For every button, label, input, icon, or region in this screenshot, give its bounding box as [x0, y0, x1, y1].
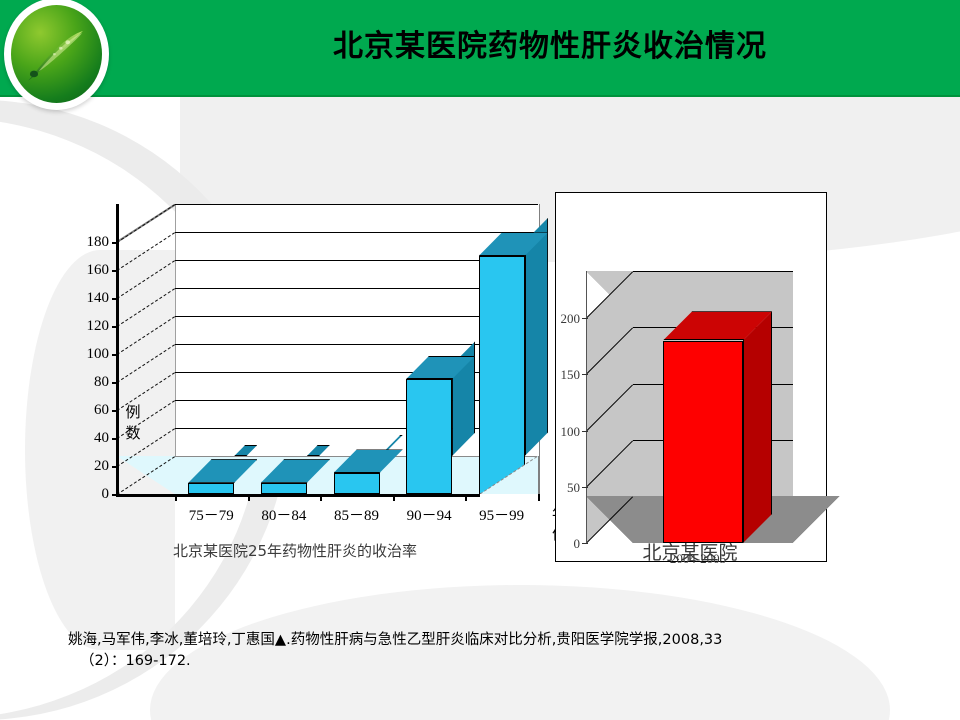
- y-tick-label: 200: [542, 313, 580, 324]
- y-tick-label: 180: [63, 236, 109, 248]
- y-tick-label: 100: [63, 348, 109, 360]
- chart-right-3d-bar: 050100150200 2004-2005: [555, 192, 827, 562]
- y-tick: [582, 431, 588, 432]
- bar-3d: [479, 204, 525, 494]
- x-category-label: 80－84: [244, 504, 324, 525]
- chart-left-plot-area: 020406080100120140160180 75－7980－8485－89…: [175, 204, 540, 494]
- bar-front-face: [261, 483, 307, 494]
- bar-front-face: [188, 483, 234, 494]
- header-underline: [0, 95, 960, 97]
- y-tick-label: 80: [63, 376, 109, 388]
- y-tick-label: 100: [542, 426, 580, 437]
- x-category-label: 75－79: [171, 504, 251, 525]
- citation-block: 姚海,马军伟,李冰,董培玲,丁惠国▲.药物性肝病与急性乙型肝炎临床对比分析,贵阳…: [68, 630, 898, 672]
- y-tick: [112, 326, 119, 328]
- caption-right-chart: 北京某医院: [560, 538, 820, 565]
- y-tick-label: 120: [63, 320, 109, 332]
- chart-right-y-axis: [586, 271, 587, 543]
- y-tick: [582, 374, 588, 375]
- bar-front-face: [406, 379, 452, 494]
- y-tick: [582, 487, 588, 488]
- gridline: [633, 271, 793, 272]
- bar-3d: [334, 204, 380, 494]
- bar-front-face: [663, 341, 743, 544]
- y-tick: [112, 410, 119, 412]
- y-tick: [112, 242, 119, 244]
- chart-left-y-axis: [116, 204, 119, 494]
- y-tick: [582, 318, 588, 319]
- y-tick: [112, 466, 119, 468]
- x-category-label: 90－94: [389, 504, 469, 525]
- y-tick: [112, 270, 119, 272]
- y-tick-label: 0: [63, 488, 109, 500]
- y-tick: [112, 354, 119, 356]
- x-tick: [248, 494, 250, 501]
- y-tick-label: 60: [63, 404, 109, 416]
- bar-side-face: [525, 218, 548, 456]
- y-tick: [112, 382, 119, 384]
- bar-side-face: [743, 311, 772, 543]
- y-tick-label: 20: [63, 460, 109, 472]
- chart-left-floor-right-wedge: [480, 456, 538, 494]
- y-tick: [112, 438, 119, 440]
- bar-front-face: [334, 473, 380, 494]
- x-tick: [465, 494, 467, 501]
- page-title: 北京某医院药物性肝炎收治情况: [200, 22, 900, 72]
- logo-badge: [4, 0, 109, 110]
- leaf-icon: [27, 29, 85, 82]
- y-tick-label: 50: [542, 482, 580, 493]
- chart-right-floor-right-wedge: [793, 496, 840, 543]
- chart-left-x-axis: [116, 494, 480, 497]
- y-tick: [112, 298, 119, 300]
- charts-row: 例数 年份 020406080100120140160180 75－7980－: [0, 180, 960, 580]
- bar-3d: [188, 204, 234, 494]
- citation-line-2: （2）：169-172.: [68, 651, 898, 672]
- y-tick-label: 150: [542, 369, 580, 380]
- x-tick: [320, 494, 322, 501]
- x-tick: [538, 494, 540, 501]
- y-tick-label: 140: [63, 292, 109, 304]
- x-tick: [175, 494, 177, 501]
- logo-disc: [11, 5, 102, 103]
- citation-line-1: 姚海,马军伟,李冰,董培玲,丁惠国▲.药物性肝病与急性乙型肝炎临床对比分析,贵阳…: [68, 630, 898, 651]
- caption-left-chart: 北京某医院25年药物性肝炎的收治率: [120, 540, 470, 561]
- bar-3d: [261, 204, 307, 494]
- y-tick-label: 40: [63, 432, 109, 444]
- x-tick: [393, 494, 395, 501]
- bar-3d: [406, 204, 452, 494]
- x-category-label: 85－89: [317, 504, 397, 525]
- x-category-label: 95－99: [462, 504, 542, 525]
- y-tick-label: 160: [63, 264, 109, 276]
- chart-left-3d-bar: 例数 年份 020406080100120140160180 75－7980－: [60, 190, 540, 540]
